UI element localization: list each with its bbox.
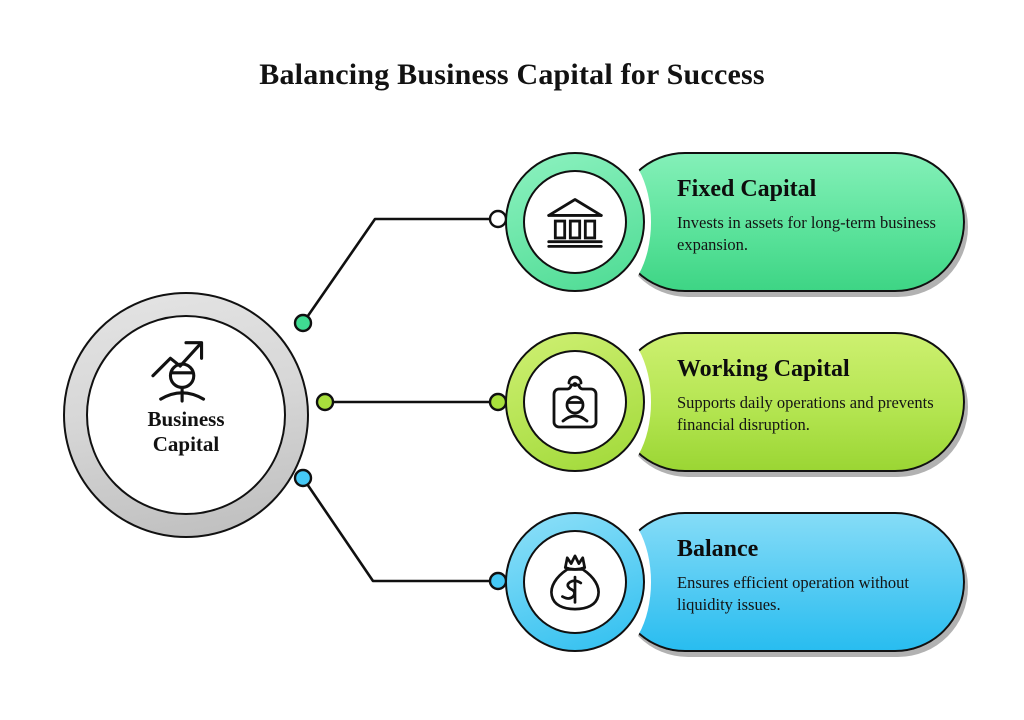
- hub-label: Business Capital: [147, 407, 224, 457]
- icon-badge-balance[interactable]: [505, 512, 645, 652]
- icon-badge-working-capital[interactable]: [505, 332, 645, 472]
- card-text-balance: Balance Ensures efficient operation with…: [677, 536, 957, 615]
- card-description-fixed-capital: Invests in assets for long-term business…: [677, 212, 957, 254]
- connector-working-capital: [317, 394, 506, 410]
- card-description-working-capital: Supports daily operations and prevents f…: [677, 392, 957, 434]
- hub-label-line2: Capital: [153, 432, 220, 456]
- icon-badge-inner-balance: [523, 530, 627, 634]
- card-heading-working-capital: Working Capital: [677, 356, 957, 382]
- connector-dot-card-balance: [490, 573, 506, 589]
- card-text-working-capital: Working Capital Supports daily operation…: [677, 356, 957, 435]
- hub-label-line1: Business: [147, 407, 224, 431]
- connector-line-balance: [303, 478, 497, 581]
- card-heading-balance: Balance: [677, 536, 957, 562]
- card-text-fixed-capital: Fixed Capital Invests in assets for long…: [677, 176, 957, 255]
- person-growth-arrow-icon: [147, 333, 225, 403]
- icon-badge-inner-working: [523, 350, 627, 454]
- bank-building-icon: [545, 192, 605, 252]
- money-bag-dollar-icon: [545, 552, 605, 612]
- connector-dot-card-fixed: [490, 211, 506, 227]
- hub-business-capital[interactable]: Business Capital: [63, 292, 309, 538]
- icon-badge-fixed-capital[interactable]: [505, 152, 645, 292]
- id-badge-person-icon: [545, 372, 605, 432]
- connector-balance: [295, 470, 506, 589]
- connector-line-fixed: [303, 219, 497, 323]
- infographic-canvas: Balancing Business Capital for Success: [0, 0, 1024, 720]
- card-description-balance: Ensures efficient operation without liqu…: [677, 572, 957, 614]
- icon-badge-inner-fixed: [523, 170, 627, 274]
- hub-inner-circle: Business Capital: [86, 315, 286, 515]
- connector-dot-card-working: [490, 394, 506, 410]
- card-heading-fixed-capital: Fixed Capital: [677, 176, 957, 202]
- connector-fixed-capital: [295, 211, 506, 331]
- connector-dot-hub-working: [317, 394, 333, 410]
